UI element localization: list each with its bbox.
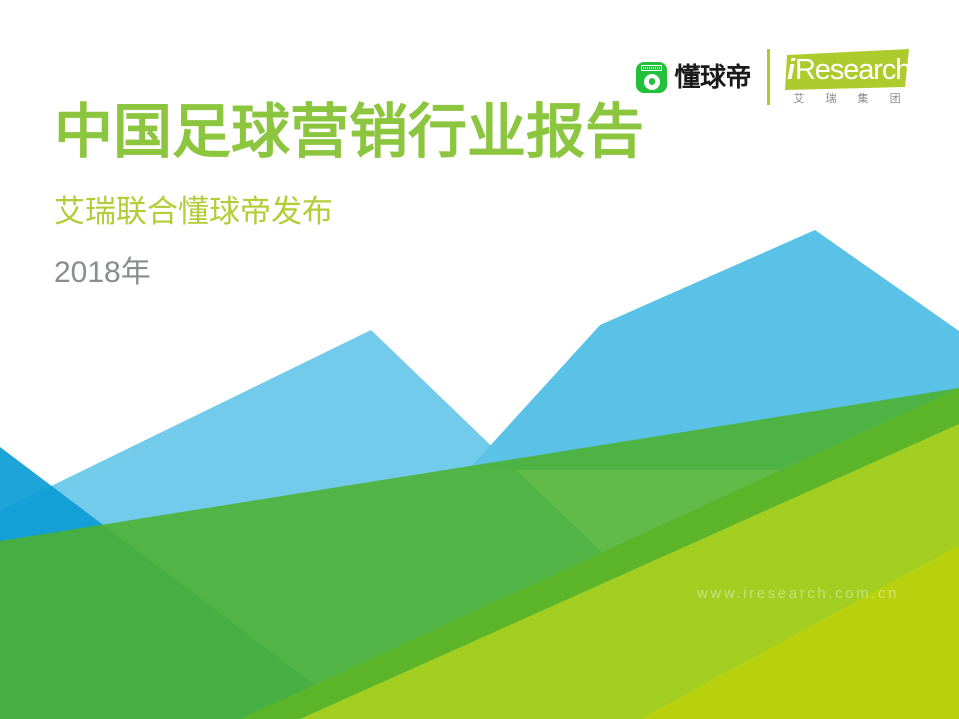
iresearch-badge: i Research (785, 49, 911, 90)
logo-divider (767, 49, 770, 105)
iresearch-letter-i: i (787, 56, 795, 85)
publication-year: 2018年 (54, 227, 754, 288)
shape-yellow-green-corner (640, 545, 959, 719)
iresearch-logo[interactable]: i Research 艾 瑞 集 团 (785, 49, 911, 105)
shape-lime-overlay (300, 424, 959, 719)
iresearch-word-research: Research (795, 56, 910, 85)
watermark-url: www.iresearch.com.cn (697, 586, 899, 601)
report-cover-slide: 懂球帝 i Research 艾 瑞 集 团 中国足球营销行业报告 艾瑞联合懂球… (0, 0, 959, 719)
soccer-ball-app-icon (636, 62, 667, 93)
logo-bar: 懂球帝 i Research 艾 瑞 集 团 (636, 46, 911, 108)
ball-icon (644, 74, 660, 90)
iresearch-wordmark: i Research (787, 53, 911, 87)
shape-blue-left-peak (0, 330, 775, 719)
shape-leaf-green-band (0, 388, 959, 719)
scoreboard-icon (641, 65, 662, 71)
iresearch-chinese-name: 艾 瑞 集 团 (785, 94, 911, 105)
page-title: 中国足球营销行业报告 (54, 101, 754, 165)
page-subtitle: 艾瑞联合懂球帝发布 (54, 165, 754, 227)
partner-wordmark: 懂球帝 (674, 64, 751, 90)
shape-lime-right-field (240, 388, 959, 719)
partner-logo-dongqiudi[interactable]: 懂球帝 (636, 62, 767, 93)
title-block: 中国足球营销行业报告 艾瑞联合懂球帝发布 2018年 (54, 101, 754, 288)
shape-blue-deep-left (0, 447, 360, 719)
